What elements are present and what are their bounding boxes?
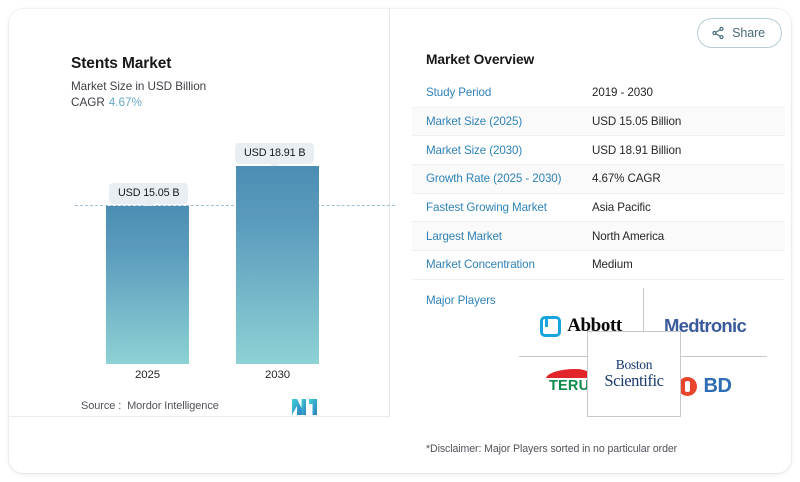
row-value: USD 15.05 Billion	[592, 115, 681, 128]
x-axis-tick-2030: 2030	[236, 369, 319, 381]
row-label: Market Size (2030)	[426, 144, 592, 157]
table-row: Largest Market North America	[412, 222, 785, 251]
source-prefix: Source :	[81, 400, 121, 412]
abbott-mark-icon	[540, 316, 561, 337]
chart-subtitle: Market Size in USD Billion	[71, 80, 206, 93]
boston-scientific-logo: Boston Scientific	[604, 358, 663, 389]
source-name: Mordor Intelligence	[127, 400, 219, 412]
overview-table: Study Period 2019 - 2030 Market Size (20…	[412, 79, 785, 280]
bar-value-callout-2025: USD 15.05 B	[109, 183, 188, 204]
major-players-grid: Abbott Medtronic TERUMO BD Boston Scient…	[519, 288, 767, 416]
table-row: Fastest Growing Market Asia Pacific	[412, 194, 785, 223]
share-label: Share	[732, 26, 765, 40]
bar-2030[interactable]	[236, 166, 319, 364]
bd-wordmark: BD	[703, 375, 731, 398]
table-row: Market Size (2025) USD 15.05 Billion	[412, 108, 785, 137]
row-label: Growth Rate (2025 - 2030)	[426, 172, 592, 185]
chart-title: Stents Market	[71, 55, 206, 73]
row-label: Study Period	[426, 86, 592, 99]
x-axis-tick-2025: 2025	[106, 369, 189, 381]
page-root: Stents Market Market Size in USD Billion…	[0, 0, 800, 482]
cagr-label: CAGR	[71, 96, 105, 109]
table-row: Market Concentration Medium	[412, 251, 785, 280]
source-label: Source : Mordor Intelligence	[81, 400, 219, 412]
bd-logo: BD	[678, 375, 731, 398]
row-value: Medium	[592, 258, 633, 271]
bar-value-callout-2030: USD 18.91 B	[235, 143, 314, 164]
chart-panel: Stents Market Market Size in USD Billion…	[9, 9, 390, 417]
share-icon	[711, 26, 725, 40]
table-row: Growth Rate (2025 - 2030) 4.67% CAGR	[412, 165, 785, 194]
share-button[interactable]: Share	[697, 18, 782, 48]
boston-line2: Scientific	[604, 371, 663, 390]
row-label: Market Size (2025)	[426, 115, 592, 128]
mordor-intelligence-logo	[292, 397, 318, 415]
player-logo-boston-scientific[interactable]: Boston Scientific	[587, 331, 681, 417]
row-value: Asia Pacific	[592, 201, 651, 214]
cagr-value: 4.67%	[109, 96, 142, 109]
table-row: Market Size (2030) USD 18.91 Billion	[412, 136, 785, 165]
chart-cagr-line: CAGR4.67%	[71, 96, 206, 109]
bd-mark-icon	[678, 377, 697, 396]
row-value: 2019 - 2030	[592, 86, 653, 99]
major-players-label: Major Players	[426, 294, 496, 307]
row-value: North America	[592, 230, 664, 243]
bar-2025[interactable]	[106, 206, 189, 364]
row-label: Market Concentration	[426, 258, 592, 271]
players-disclaimer: *Disclaimer: Major Players sorted in no …	[426, 443, 677, 455]
overview-title: Market Overview	[426, 52, 534, 67]
row-label: Largest Market	[426, 230, 592, 243]
row-value: 4.67% CAGR	[592, 172, 661, 185]
row-value: USD 18.91 Billion	[592, 144, 681, 157]
chart-header: Stents Market Market Size in USD Billion…	[71, 55, 206, 109]
row-label: Fastest Growing Market	[426, 201, 592, 214]
table-row: Study Period 2019 - 2030	[412, 79, 785, 108]
